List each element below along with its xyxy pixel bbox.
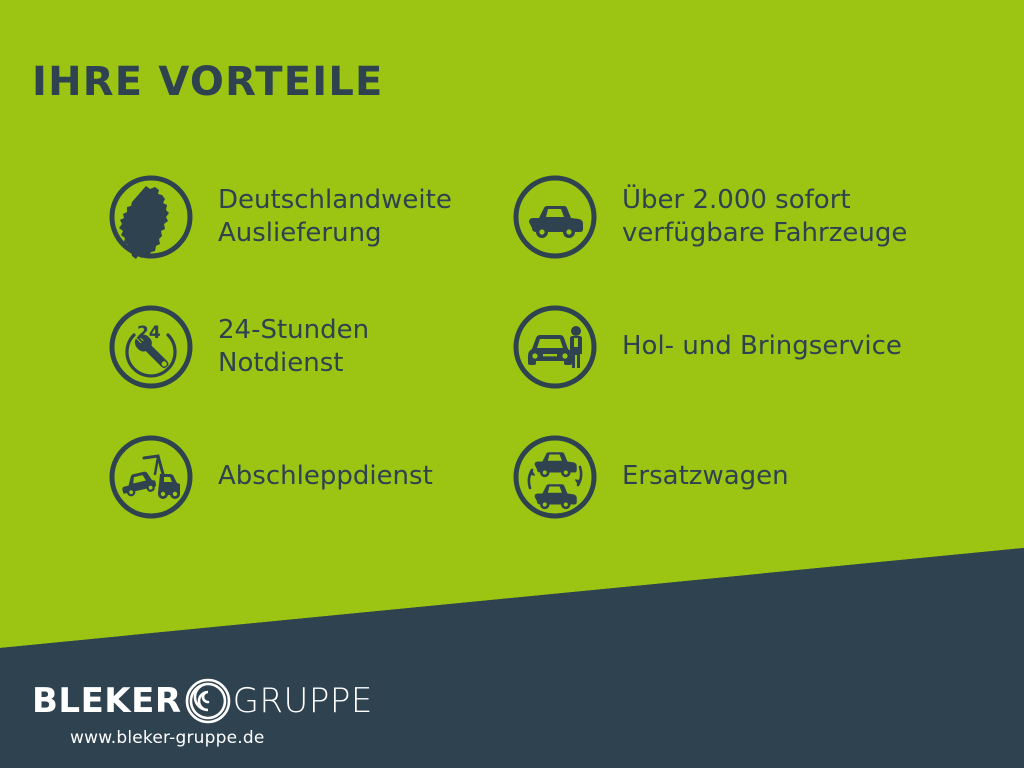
logo-wordmark-row: BLEKER GRUPPE — [32, 678, 332, 724]
benefit-item-hol-und-bringservice: Hol- und Bringservice — [505, 282, 1024, 412]
car-with-valet-icon — [512, 304, 598, 390]
benefit-label: Hol- und Bringservice — [622, 330, 902, 363]
logo-text-gruppe: GRUPPE — [233, 684, 373, 718]
tow-truck-icon — [108, 434, 194, 520]
website-url[interactable]: www.bleker-gruppe.de — [32, 728, 332, 748]
company-logo[interactable]: BLEKER GRUPPE www.bleker-gruppe.de — [32, 678, 332, 748]
benefit-item-abschleppdienst: Abschleppdienst — [0, 412, 505, 542]
benefit-label: Über 2.000 sofort verfügbare Fahrzeuge — [622, 184, 907, 251]
benefit-label: Deutschlandweite Auslieferung — [218, 184, 452, 251]
slide-root: IHRE VORTEILE Deutschlandweite Ausliefer… — [0, 0, 1024, 768]
logo-text-bleker: BLEKER — [32, 684, 182, 718]
benefit-item-verfuegbare-fahrzeuge: Über 2.000 sofort verfügbare Fahrzeuge — [505, 152, 1024, 282]
benefit-label: Ersatzwagen — [622, 460, 789, 493]
benefit-item-24-stunden-notdienst: 24 24-Stunden Notdienst — [0, 282, 505, 412]
benefit-item-deutschlandweite-auslieferung: Deutschlandweite Auslieferung — [0, 152, 505, 282]
page-title: IHRE VORTEILE — [32, 62, 384, 102]
24-hour-wrench-icon: 24 — [108, 304, 194, 390]
benefit-label: 24-Stunden Notdienst — [218, 314, 369, 381]
car-side-icon — [512, 174, 598, 260]
benefit-label: Abschleppdienst — [218, 460, 433, 493]
germany-map-icon — [108, 174, 194, 260]
benefit-item-ersatzwagen: Ersatzwagen — [505, 412, 1024, 542]
two-cars-exchange-icon — [512, 434, 598, 520]
spiral-logo-icon — [184, 677, 232, 725]
benefits-grid: Deutschlandweite Auslieferung Über 2.000… — [0, 152, 1024, 542]
